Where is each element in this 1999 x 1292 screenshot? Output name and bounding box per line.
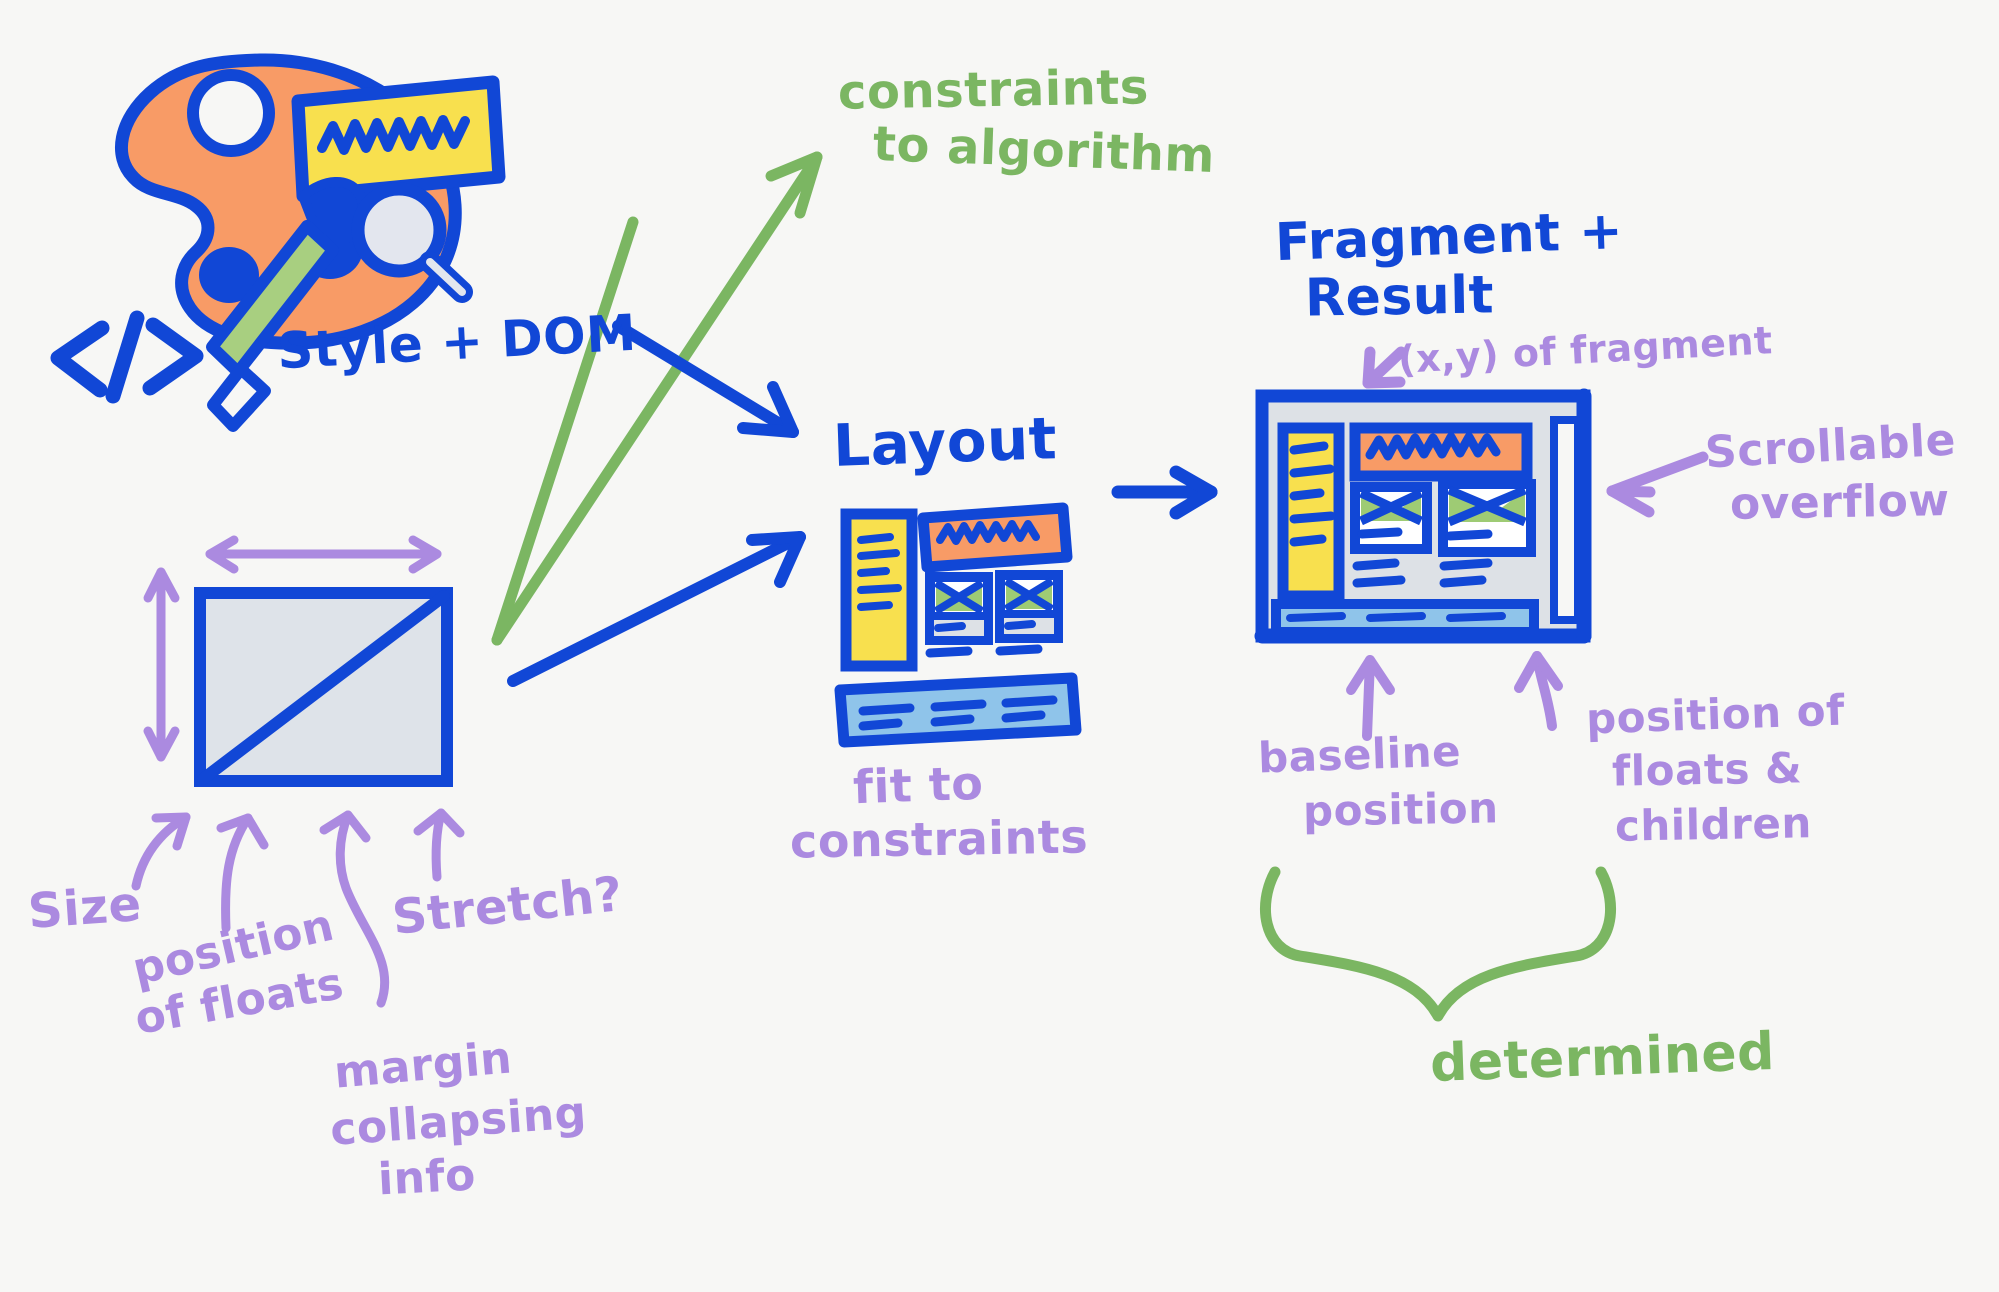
constraints-to-algorithm-label-line2: to algorithm xyxy=(872,116,1216,184)
baseline-position-label-line1: baseline xyxy=(1257,726,1462,782)
floats-children-arrow xyxy=(1519,656,1558,726)
height-measure-arrow xyxy=(148,572,175,757)
layout-to-fragment-arrow xyxy=(1118,472,1211,513)
layout-wireframe-mockup xyxy=(840,508,1076,742)
baseline-position-label-line2: position xyxy=(1303,783,1499,835)
size-callout-arrow xyxy=(136,817,186,886)
size-label: Size xyxy=(26,876,143,940)
fragment-browser-mockup xyxy=(1262,396,1584,636)
scrollable-overflow-arrow xyxy=(1612,457,1703,512)
layout-stage-title: Layout xyxy=(832,404,1058,480)
constraint-space-box xyxy=(200,593,447,781)
xy-fragment-callout-arrow xyxy=(1368,352,1401,383)
scrollable-overflow-label-line2: overflow xyxy=(1730,475,1950,530)
fit-to-constraints-label-line2: constraints xyxy=(790,809,1089,868)
diagram-canvas: constraints to algorithm Style + DOM Lay… xyxy=(0,0,1999,1292)
constraints-to-algorithm-label-line1: constraints xyxy=(838,59,1150,120)
stretch-callout-arrow xyxy=(418,813,460,877)
fragment-result-title-line2: Result xyxy=(1304,265,1494,328)
floats-children-label-line1: position of xyxy=(1585,685,1845,743)
floats-children-label-line2: floats & xyxy=(1612,743,1803,795)
code-icon xyxy=(58,318,196,396)
fit-to-constraints-label-line1: fit to xyxy=(852,756,984,815)
position-of-floats-callout-arrow xyxy=(221,818,264,928)
constraints-to-algorithm-arrow xyxy=(497,157,817,640)
width-measure-arrow xyxy=(210,540,437,569)
baseline-position-arrow xyxy=(1351,660,1390,736)
floats-children-label-line3: children xyxy=(1615,798,1813,850)
determined-label: determined xyxy=(1429,1022,1776,1094)
determined-brace xyxy=(1265,872,1610,1016)
fragment-result-title-line1: Fragment + xyxy=(1274,201,1624,273)
illustration-layer xyxy=(0,0,1999,1292)
margin-collapsing-label-line3: info xyxy=(377,1149,477,1205)
